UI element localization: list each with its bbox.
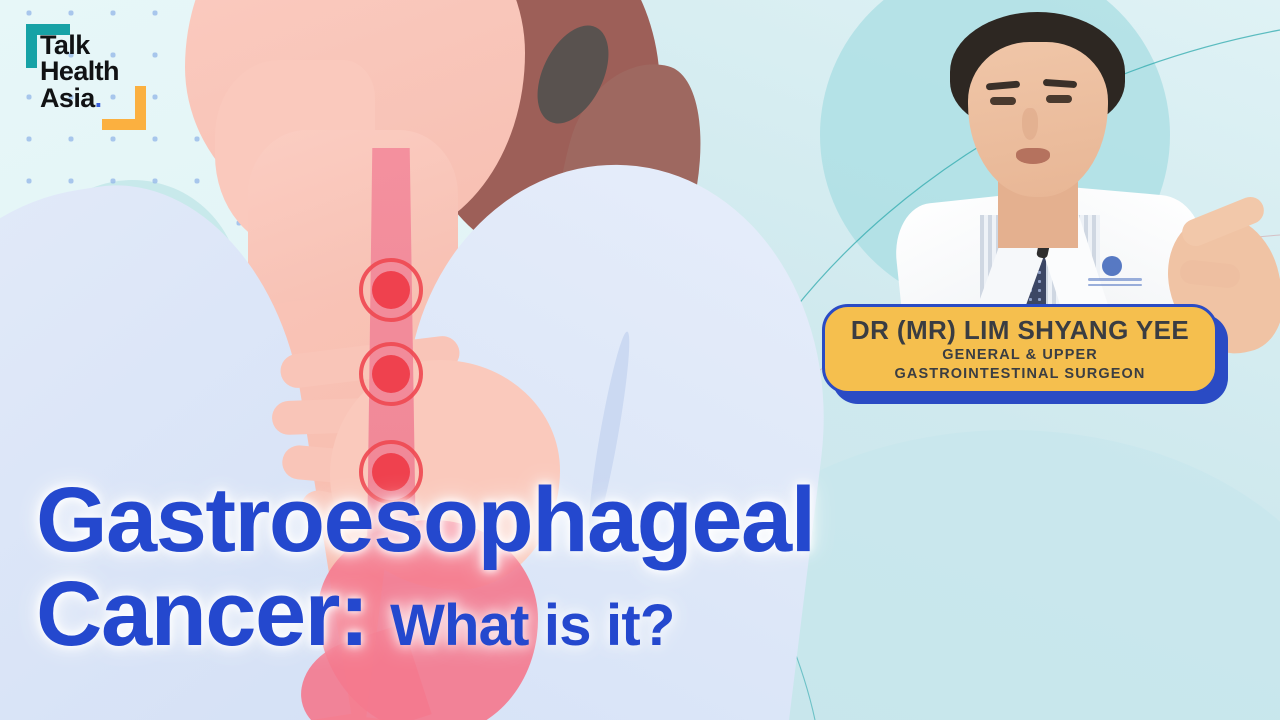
hospital-logo-mark [1102, 256, 1122, 276]
pain-marker-2 [359, 342, 423, 406]
pain-marker-core [372, 355, 410, 393]
doctor-nose [1022, 108, 1038, 140]
logo-dot: . [95, 83, 102, 113]
logo-line-3: Asia [40, 83, 95, 113]
hospital-logo-text-line [1088, 284, 1142, 286]
doctor-role: GENERAL & UPPER GASTROINTESTINAL SURGEON [895, 346, 1146, 383]
hospital-logo-text-line [1088, 278, 1142, 281]
title-subtitle: What is it? [390, 592, 674, 659]
hospital-logo-embroidery [1088, 256, 1142, 290]
doctor-role-line-2: GASTROINTESTINAL SURGEON [895, 366, 1146, 382]
doctor-eye-right [1046, 95, 1072, 103]
title-line-1: Gastroesophageal [36, 476, 936, 564]
title-block: Gastroesophageal Cancer: What is it? [36, 476, 936, 659]
doctor-eye-left [990, 97, 1016, 105]
pain-marker-1 [359, 258, 423, 322]
brand-logo: Talk Health Asia. [14, 24, 149, 134]
doctor-mouth [1016, 148, 1050, 164]
title-row-2: Cancer: What is it? [36, 570, 936, 659]
title-line-2: Cancer: [36, 570, 368, 658]
doctor-role-line-1: GENERAL & UPPER [942, 347, 1098, 363]
video-thumbnail: DR (MR) LIM SHYANG YEE GENERAL & UPPER G… [0, 0, 1280, 720]
logo-wordmark: Talk Health Asia. [40, 32, 119, 111]
doctor-name: DR (MR) LIM SHYANG YEE [851, 317, 1189, 344]
name-badge: DR (MR) LIM SHYANG YEE GENERAL & UPPER G… [822, 304, 1218, 394]
pain-marker-core [372, 271, 410, 309]
